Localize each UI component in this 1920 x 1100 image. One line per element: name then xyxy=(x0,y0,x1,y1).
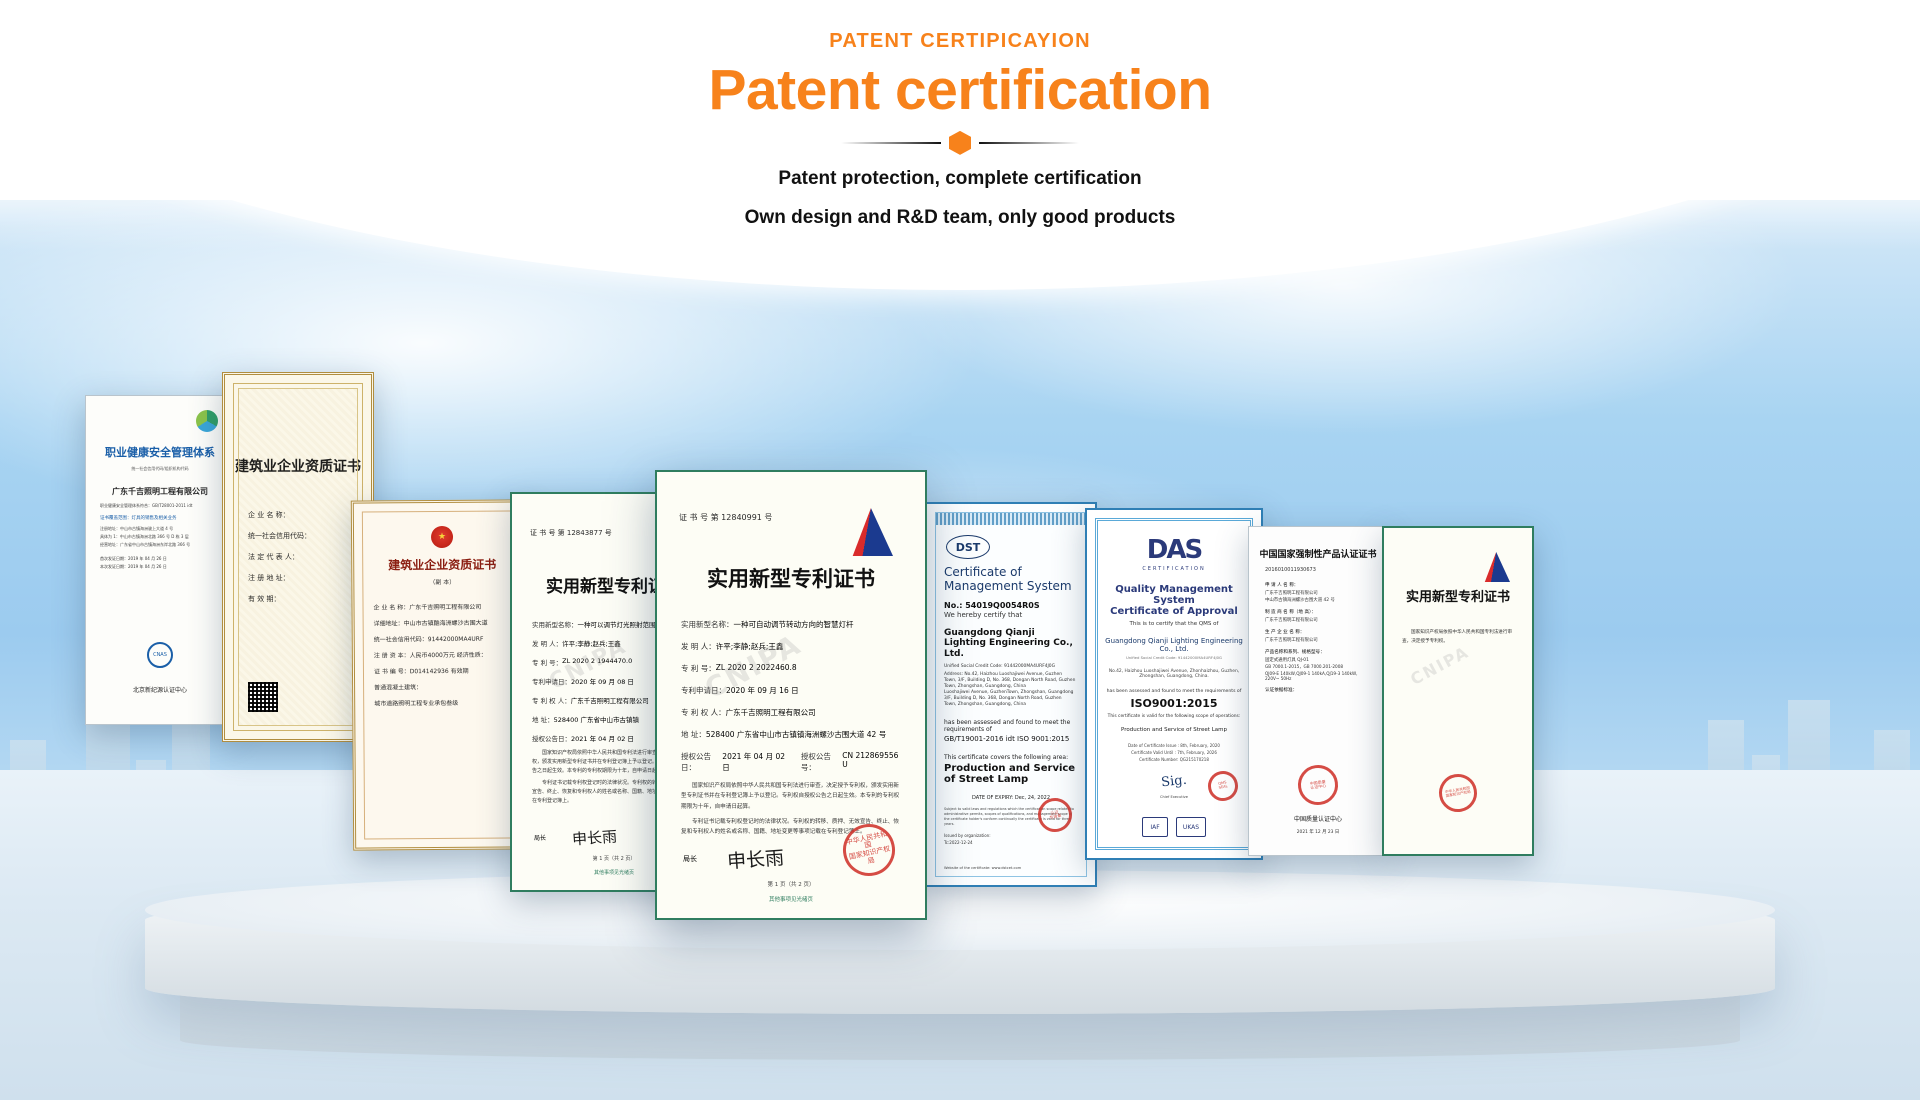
patent2-number-value: ZL 2020 2 2022460.8 xyxy=(716,663,797,674)
ohs-subtitle: 统一社会信用代码/组织机构代码 xyxy=(94,466,226,472)
duplicate-capital: 注 册 资 本：人民币4000万元 经济性质： xyxy=(374,650,512,660)
das-issue-date: Date of Certificate Issue : 8th, Februar… xyxy=(1098,743,1250,748)
das-standard: ISO9001:2015 xyxy=(1098,697,1250,710)
duplicate-badge: （副 本） xyxy=(363,576,521,586)
ccc-standard-label: 认证依据标准： xyxy=(1265,687,1371,693)
ohs-body-address: 具体为 1：中山市古镇海洲北路 366 号 D 栋 3 层 xyxy=(100,534,220,540)
dst-website: Website of the certificate: www.dstcet.c… xyxy=(944,866,1021,870)
certificate-ohs-management-system[interactable]: 职业健康安全管理体系 统一社会信用代码/组织机构代码 广东千吉照明工程有限公司 … xyxy=(85,395,235,725)
ohs-standard: 职业健康安全管理体系符合：GB/T28001-2011 idt xyxy=(100,503,220,509)
ccc-title: 中国国家强制性产品认证证书 xyxy=(1257,547,1379,560)
patent2-inventor-label: 发 明 人： xyxy=(681,641,716,652)
certificate-gallery: 职业健康安全管理体系 统一社会信用代码/组织机构代码 广东千吉照明工程有限公司 … xyxy=(0,130,1920,1100)
patent2-owner-label: 专 利 权 人： xyxy=(681,707,726,718)
patent2-grant-no-value: CN 212869556 U xyxy=(842,751,901,773)
patent1-grant-value: 2021 年 04 月 02 日 xyxy=(571,733,634,743)
patent2-name-value: 一种可自动调节转动方向的智慧灯杆 xyxy=(734,619,854,630)
ccc-factory-value: 广东千吉照明工程有限公司 xyxy=(1265,637,1371,643)
patent2-issuer-label: 局长 xyxy=(683,854,697,864)
ccc-issue-date: 2021 年 12 月 23 日 xyxy=(1257,829,1379,835)
patent1-inventor-value: 许平;李静;赵兵;王鑫 xyxy=(562,638,621,648)
hexagon-icon xyxy=(949,131,971,155)
certificate-das-iso9001[interactable]: DAS CERTIFICATION Quality Management Sys… xyxy=(1085,508,1263,860)
ccc-spec-value: QJ09-E 140kW,QJ09-1 140kA,QJ19-3 140kW, … xyxy=(1265,671,1371,681)
patent2-page-number: 第 1 页（共 2 页） xyxy=(665,880,917,888)
ohs-logo-icon xyxy=(196,410,218,432)
divider-line-left xyxy=(841,142,941,144)
ohs-holder: 广东千吉照明工程有限公司 xyxy=(94,486,226,497)
certificate-utility-model-right[interactable]: CNIPA 实用新型专利证书 国家知识产权局依照中华人民共和国专利法进行审查，决… xyxy=(1382,526,1534,856)
page-title: Patent certification xyxy=(0,61,1920,121)
duplicate-title: 建筑业企业资质证书 xyxy=(363,555,521,573)
ohs-scope: 证书覆盖范围：灯具的销售及相关业务 xyxy=(100,515,220,521)
patent2-cert-no: 证 书 号 第 12840991 号 xyxy=(679,512,917,523)
ohs-footer: 北京新纪源认证中心 xyxy=(94,685,226,694)
patent1-number-label: 专 利 号： xyxy=(532,657,562,667)
dst-title-1: Certificate of xyxy=(944,565,1086,579)
duplicate-company: 企 业 名 称：广东千吉照明工程有限公司 xyxy=(373,602,511,612)
patent1-number-value: ZL 2020 2 1944470.0 xyxy=(562,657,632,667)
ohs-title: 职业健康安全管理体系 xyxy=(94,444,226,460)
patent2-apply-date-value: 2020 年 09 月 16 日 xyxy=(726,685,799,696)
ccc-footer: 中国质量认证中心 xyxy=(1257,814,1379,823)
national-emblem-icon xyxy=(431,526,453,548)
patent2-owner-value: 广东千吉照明工程有限公司 xyxy=(726,707,816,718)
patent2-number-label: 专 利 号： xyxy=(681,663,716,674)
das-signature: Sig. xyxy=(1161,773,1188,791)
das-logo-icon: DAS xyxy=(1147,535,1201,565)
patent2-address-value: 528400 广东省中山市古镇镇海洲螺沙古围大道 42 号 xyxy=(706,729,886,740)
ccc-maker-label: 制 造 商 名 称（地 高）： xyxy=(1265,609,1371,615)
dst-credit-code: Unified Social Credit Code: 91442000MA4U… xyxy=(944,664,1078,669)
dst-standard: GB/T19001-2016 idt ISO 9001:2015 xyxy=(944,735,1078,743)
dst-address-3: Town, Zhongshan, Guangdong, China xyxy=(944,684,1078,689)
das-assessed-text: has been assessed and found to meet the … xyxy=(1098,689,1250,694)
patent1-name-label: 实用新型名称： xyxy=(532,619,578,629)
dst-issued-by: Issued by organization: xyxy=(944,833,1078,838)
patent1-name-value: 一种可以调节灯光照射范围的 xyxy=(578,619,663,629)
patent1-issuer-label: 局长 xyxy=(534,833,546,842)
dst-holder: Guangdong Qianji Lighting Engineering Co… xyxy=(944,628,1078,659)
patent1-apply-date-value: 2020 年 09 月 08 日 xyxy=(571,676,634,686)
das-title-2: Certificate of Approval xyxy=(1098,606,1250,617)
dst-address-1: Address: No.42, Haizhou Luoshajiwei Aven… xyxy=(944,672,1078,677)
eyebrow-text: PATENT CERTIPICAYION xyxy=(0,30,1920,53)
dst-certify-text: We hereby certify that xyxy=(944,611,1086,619)
duplicate-cert-no: 证 书 编 号：D014142936 有效期 xyxy=(374,666,512,676)
das-scope: Production and Service of Street Lamp xyxy=(1098,727,1250,733)
dst-issue-date: Tc:2022-12-24 xyxy=(944,840,1078,845)
das-holder: Guangdong Qianji Lighting Engineering Co… xyxy=(1098,637,1250,653)
certificate-utility-model-12840991[interactable]: CNIPA 证 书 号 第 12840991 号 实用新型专利证书 实用新型名称… xyxy=(655,470,927,920)
duplicate-address: 详细地址：中山市古镇酷海洲螺沙古围大道 xyxy=(374,618,512,628)
cnas-accreditation-icon: CNAS xyxy=(147,642,173,668)
patent2-grant-value: 2021 年 04 月 02 日 xyxy=(722,751,789,773)
patent3-red-seal: 中华人民共和国国家知识产权局 xyxy=(1436,771,1480,815)
das-title-1: Quality Management System xyxy=(1098,584,1250,606)
ccc-product-label: 产品名称和系列、规格型号： xyxy=(1265,649,1371,655)
dst-registration-no: No.: 54019Q0054R0S xyxy=(944,601,1086,610)
cnipa-watermark-right: CNIPA xyxy=(1407,642,1472,689)
patent2-title: 实用新型专利证书 xyxy=(665,563,917,593)
ohs-reg-address: 注册地址：中山市古镇海洲骏上大道 4 号 xyxy=(100,526,220,532)
certificate-dst-iso9001[interactable]: DST Certificate of Management System No.… xyxy=(925,502,1097,887)
dst-scope: Production and Service of Street Lamp xyxy=(944,763,1078,785)
divider-line-right xyxy=(979,142,1079,144)
certificate-ccc-compulsory-product[interactable]: 中国国家强制性产品认证证书 2016010011930673 申 请 人 名 称… xyxy=(1248,526,1388,856)
das-credit-code: Unified Social Credit Code: 91442000MA4U… xyxy=(1098,655,1250,660)
ukas-accreditation-icon: UKAS xyxy=(1176,817,1206,837)
patent1-address-value: 528400 广东省中山市古镇镇 xyxy=(554,714,639,724)
patent2-grant-no-label: 授权公告号： xyxy=(801,751,842,773)
hero-scene: 职业健康安全管理体系 统一社会信用代码/组织机构代码 广东千吉照明工程有限公司 … xyxy=(0,130,1920,1100)
patent1-grant-label: 授权公告日： xyxy=(532,733,571,743)
patent2-grant-label: 授权公告日： xyxy=(681,751,722,773)
dst-title-2: Management System xyxy=(944,579,1086,593)
das-expiry-date: Certificate Valid Until : 7th, February,… xyxy=(1098,750,1250,755)
das-certify-text: This is to certify that the QMS of xyxy=(1098,621,1250,627)
dst-scope-label: This certificate covers the following ar… xyxy=(944,754,1078,761)
duplicate-credit-code: 统一社会信用代码：91442000MA4URF xyxy=(374,634,512,644)
das-address: No.42, Haizhou Luoshajiwei Avenue, Zhonh… xyxy=(1098,669,1250,679)
patent2-address-label: 地 址： xyxy=(681,729,706,740)
gold-cert-qr-code xyxy=(248,682,278,712)
das-scope-label: This certificate is valid for the follow… xyxy=(1098,714,1250,719)
ccc-applicant-label: 申 请 人 名 称： xyxy=(1265,582,1371,588)
ccc-standard-value: GB 7000.1-2015，GB 7000.201-2008 xyxy=(1265,664,1371,670)
patent1-owner-label: 专 利 权 人： xyxy=(532,695,571,705)
patent1-apply-date-label: 专利申请日： xyxy=(532,676,571,686)
patent1-owner-value: 广东千吉照明工程有限公司 xyxy=(571,695,649,705)
ccc-factory-label: 生 产 企 业 名 称： xyxy=(1265,629,1371,635)
patent2-signature: 申长雨 xyxy=(726,843,785,874)
subtitle-line-1: Patent protection, complete certificatio… xyxy=(0,165,1920,193)
ohs-op-address: 经营地址：广东省中山市古镇海洲东岸北路 366 号 xyxy=(100,542,220,548)
patent2-apply-date-label: 专利申请日： xyxy=(681,685,726,696)
ccc-product-value: 固定式通用灯具 QJ-01 xyxy=(1265,657,1371,663)
das-cert-number: Certificate Number: QG215170218 xyxy=(1098,757,1250,762)
dst-address-6: Town, Zhongshan, Guangdong, China xyxy=(944,702,1078,707)
patent3-body: 国家知识产权局依照中华人民共和国专利法进行审查，决定授予专利权。 xyxy=(1402,629,1514,646)
ccc-cert-no: 2016010011930673 xyxy=(1265,567,1379,573)
page-header: PATENT CERTIPICAYION Patent certificatio… xyxy=(0,0,1920,200)
title-divider xyxy=(830,133,1090,153)
patent1-inventor-label: 发 明 人： xyxy=(532,638,562,648)
ccc-red-seal: 中国质量认证中心 xyxy=(1295,762,1340,807)
patent2-footer: 其他事项见光绪页 xyxy=(665,895,917,903)
ccc-applicant-address: 中山市古镇海洲螺沙古围大道 42 号 xyxy=(1265,597,1371,603)
das-logo-subtitle: CERTIFICATION xyxy=(1098,566,1250,572)
dst-assessed-text: has been assessed and found to meet the … xyxy=(944,719,1078,733)
dst-logo-icon: DST xyxy=(946,535,990,559)
subtitle-line-2: Own design and R&D team, only good produ… xyxy=(0,204,1920,232)
ccc-applicant-value: 广东千吉照明工程有限公司 xyxy=(1265,590,1371,596)
patent2-name-label: 实用新型名称： xyxy=(681,619,734,630)
dst-address-5: 3/F, Building D, No. 368, Dongan North R… xyxy=(944,696,1078,701)
patent1-signature: 申长雨 xyxy=(571,825,617,849)
patent2-inventor-value: 许平;李静;赵兵;王鑫 xyxy=(716,641,784,652)
patent1-address-label: 地 址： xyxy=(532,714,554,724)
iaf-accreditation-icon: IAF xyxy=(1142,817,1168,837)
ohs-issue-date: 首次发证日期：2019 年 04 月 26 日 xyxy=(100,556,220,562)
ccc-maker-value: 广东千吉照明工程有限公司 xyxy=(1265,617,1371,623)
dst-address-2: Town, 3/F, Building D, No. 368, Dongan N… xyxy=(944,678,1078,683)
patent3-title: 实用新型专利证书 xyxy=(1392,586,1524,605)
certificate-construction-qualification-duplicate[interactable]: 建筑业企业资质证书 （副 本） 企 业 名 称：广东千吉照明工程有限公司 详细地… xyxy=(351,499,535,850)
duplicate-scope: 普通混凝土建筑： xyxy=(374,682,512,692)
ohs-recert-date: 本次发证日期：2019 年 04 月 26 日 xyxy=(100,564,220,570)
patent2-body-1: 国家知识产权局依照中华人民共和国专利法进行审查，决定授予专利权，颁发实用新型专利… xyxy=(681,781,901,812)
cnipa-logo-icon-right xyxy=(1480,552,1510,582)
duplicate-grade: 城市道路照明工程专业承包叁级 xyxy=(374,698,512,708)
dst-address-4: Luoshajiwei Avenue, GuzhenTown, Zhongsha… xyxy=(944,690,1078,695)
